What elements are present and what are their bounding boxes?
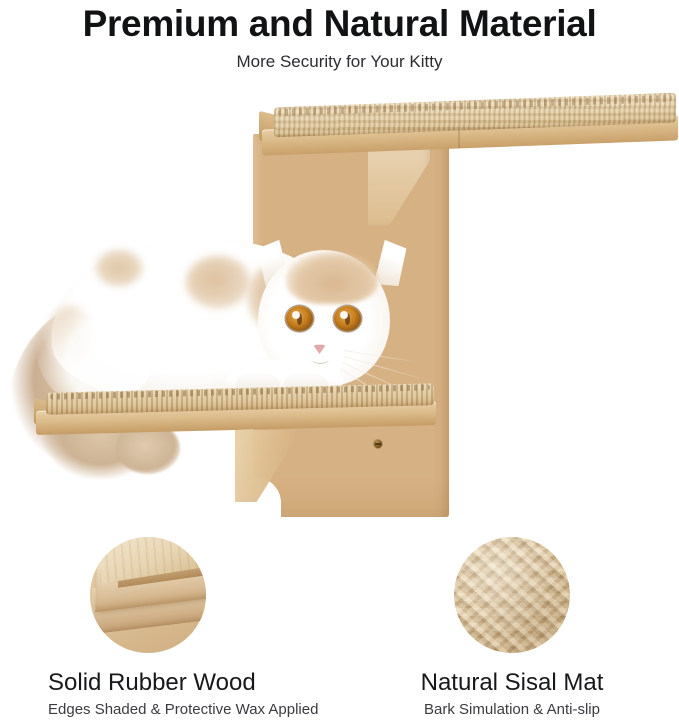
cat-head-marking	[286, 252, 378, 304]
sisal-shading	[454, 537, 570, 653]
cat-eye-right	[334, 306, 361, 331]
cat-eye-left	[286, 306, 313, 331]
feature-title: Natural Sisal Mat	[412, 668, 612, 698]
hero-product-photo	[0, 92, 679, 532]
page-subheadline: More Security for Your Kitty	[0, 50, 679, 74]
sisal-weave-photo-icon	[454, 537, 570, 653]
lower-shelf	[36, 388, 436, 442]
cat-fur-patch	[96, 250, 142, 286]
product-feature-page: Premium and Natural Material More Securi…	[0, 0, 679, 718]
feature-subtitle: Edges Shaded & Protective Wax Applied	[48, 700, 248, 720]
wood-planks-photo-icon	[90, 537, 206, 653]
feature-title: Solid Rubber Wood	[48, 668, 248, 698]
feature-solid-rubber-wood: Solid Rubber Wood Edges Shaded & Protect…	[48, 537, 248, 720]
cat-photo	[0, 92, 679, 532]
feature-natural-sisal-mat: Natural Sisal Mat Bark Simulation & Anti…	[412, 537, 612, 720]
page-headline: Premium and Natural Material	[0, 2, 679, 46]
cat-fur-patch	[186, 256, 250, 308]
feature-subtitle: Bark Simulation & Anti-slip	[412, 700, 612, 720]
